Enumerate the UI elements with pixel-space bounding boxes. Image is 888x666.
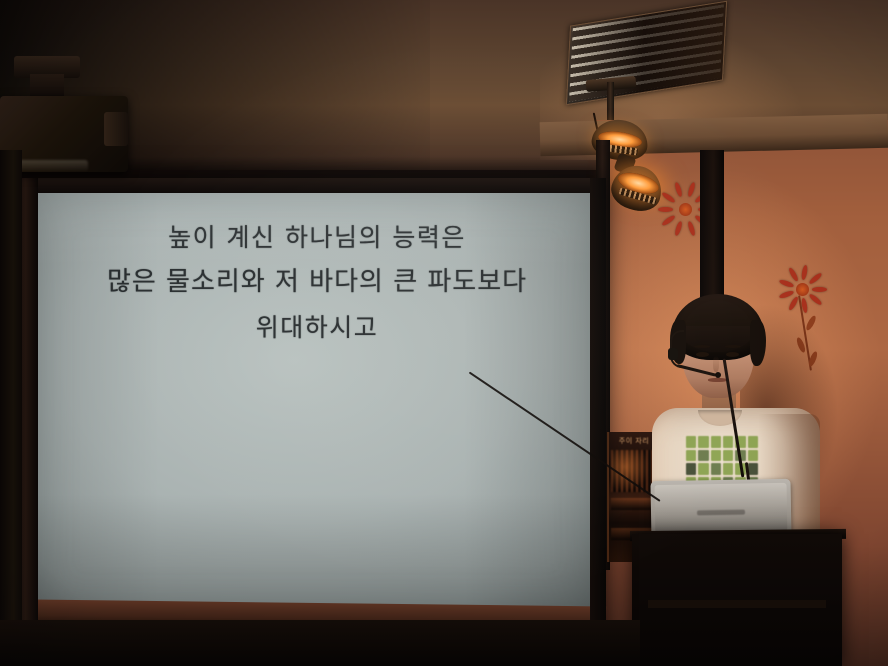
shirt-graphic-cell bbox=[748, 450, 758, 462]
shirt-graphic-cell bbox=[711, 450, 721, 462]
shirt-graphic-cell bbox=[698, 463, 708, 475]
laptop-lid bbox=[655, 483, 788, 533]
flower-petal bbox=[808, 271, 823, 284]
flower-petal bbox=[686, 182, 695, 198]
flower-core bbox=[679, 203, 692, 216]
eyebrow-left bbox=[694, 345, 710, 348]
shirt-graphic-cell bbox=[723, 436, 733, 448]
hair-side-right bbox=[750, 320, 766, 366]
eye-right bbox=[726, 352, 739, 357]
nose bbox=[713, 356, 719, 372]
podium-shelf bbox=[648, 600, 826, 608]
shirt-graphic-cell bbox=[686, 450, 696, 462]
shirt-graphic-cell bbox=[723, 463, 733, 475]
slide-line-1: 높이 계신 하나님의 능력은 bbox=[36, 215, 598, 260]
shirt-graphic-cell bbox=[698, 436, 708, 448]
projection-screen: 높이 계신 하나님의 능력은 많은 물소리와 저 바다의 큰 파도보다 위대하시… bbox=[10, 178, 606, 648]
flower-petal bbox=[661, 214, 676, 227]
shirt-graphic-cell bbox=[723, 450, 733, 462]
screen-edge-right bbox=[590, 178, 606, 648]
shirt-graphic-cell bbox=[698, 450, 708, 462]
flower-petal bbox=[686, 220, 695, 236]
flower-petal bbox=[674, 182, 683, 198]
shirt-graphic-cell bbox=[686, 463, 696, 475]
shirt-graphic-cell bbox=[748, 436, 758, 448]
light-rod bbox=[607, 82, 614, 120]
eyebrow-right bbox=[725, 345, 741, 348]
mouth bbox=[708, 378, 727, 382]
slide-line-2: 많은 물소리와 저 바다의 큰 파도보다 bbox=[36, 260, 598, 305]
eye-left bbox=[696, 352, 709, 357]
flower-petal bbox=[674, 220, 683, 236]
shirt-graphic-cell bbox=[711, 463, 721, 475]
shirt-graphic-cell bbox=[711, 436, 721, 448]
slide-line-3: 위대하시고 bbox=[36, 305, 598, 350]
laptop-logo bbox=[697, 510, 745, 516]
shirt-graphic-cell bbox=[686, 436, 696, 448]
projector-lens bbox=[104, 112, 128, 146]
flower-petal bbox=[658, 207, 673, 212]
photo-scene: 주이 자리 bbox=[0, 0, 888, 666]
flower-petal bbox=[661, 191, 676, 204]
slide-text: 높이 계신 하나님의 능력은 많은 물소리와 저 바다의 큰 파도보다 위대하시… bbox=[36, 215, 598, 350]
podium bbox=[632, 534, 842, 666]
screen-top-bar bbox=[34, 178, 606, 194]
foreground-bottom bbox=[0, 620, 640, 666]
headset-earpiece bbox=[668, 348, 678, 360]
microphone-tip bbox=[715, 372, 721, 378]
projector-highlight bbox=[14, 160, 88, 172]
flower-petal bbox=[788, 267, 800, 282]
foreground-left-edge bbox=[0, 150, 22, 666]
